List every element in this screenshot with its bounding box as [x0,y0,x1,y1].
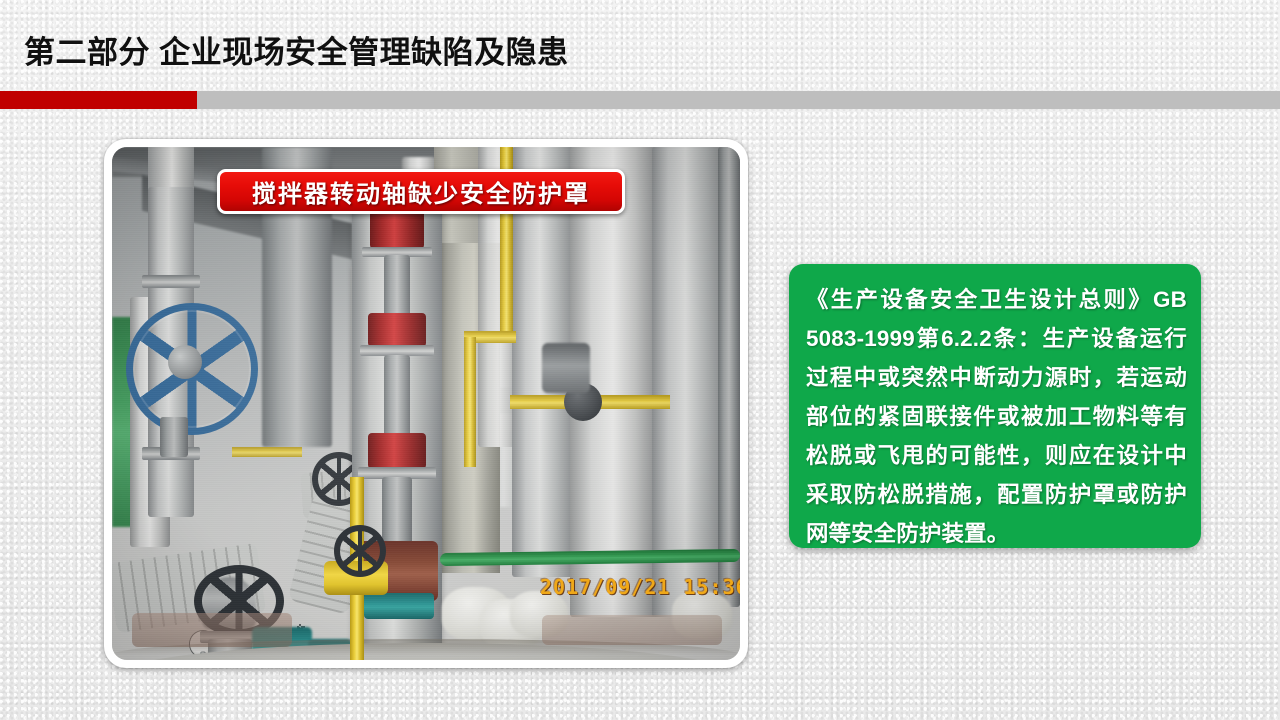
regulation-text: 《生产设备安全卫生设计总则》GB 5083-1999第6.2.2条：生产设备运行… [806,280,1187,553]
right-column-3 [652,147,726,617]
rusty-base-plate [132,613,292,647]
agitator-red-coupling-mid [368,313,426,347]
control-valve [542,343,590,393]
presentation-slide: 第二部分 企业现场安全管理缺陷及隐患 [0,0,1280,720]
industrial-plant-photo: 搅拌器转动轴缺少安全防护罩 2017/09/21 15:36 [112,147,740,660]
agitator-red-coupling-low [368,433,426,469]
valve-stem [160,417,188,457]
agitator-shaft-exposed-2 [384,355,410,437]
photo-frame: 搅拌器转动轴缺少安全防护罩 2017/09/21 15:36 [104,139,748,668]
right-pipe-2 [718,147,740,607]
agitator-shaft-exposed [384,255,410,317]
yellow-gas-pipe-vertical-2 [464,337,476,467]
pipe-flange [142,275,200,288]
yellow-line-handwheel [334,525,386,577]
yellow-pipe-small [232,447,302,457]
page-title: 第二部分 企业现场安全管理缺陷及隐患 [24,27,569,72]
photo-caption-badge: 搅拌器转动轴缺少安全防护罩 [217,169,625,214]
title-divider-rule [0,91,1280,109]
divider-red-accent-bar [0,91,197,109]
rusty-base-plate-2 [542,615,722,645]
agitator-motor-teal [364,593,434,619]
photo-timestamp: 2017/09/21 15:36 [540,575,740,599]
photo-caption-text: 搅拌器转动轴缺少安全防护罩 [252,174,590,209]
agitator-shaft-exposed-3 [382,477,412,547]
regulation-callout-box: 《生产设备安全卫生设计总则》GB 5083-1999第6.2.2条：生产设备运行… [789,264,1201,548]
valve-hub [168,345,202,379]
